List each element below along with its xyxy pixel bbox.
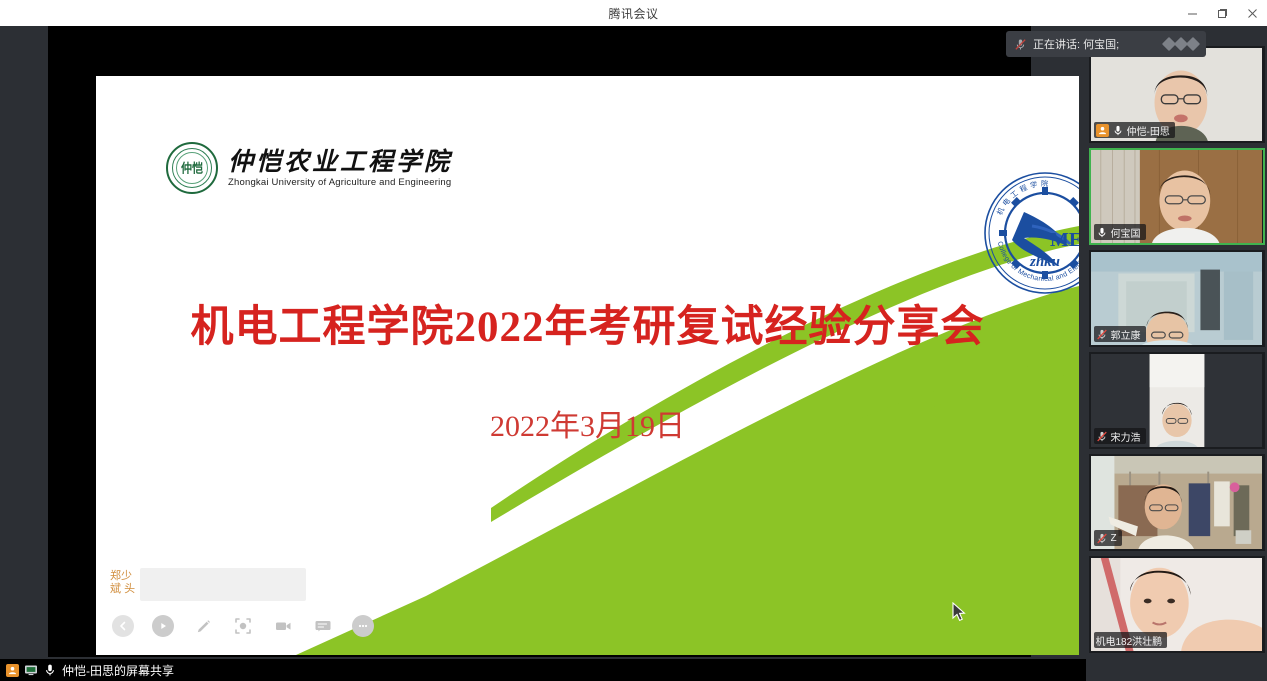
- pen-icon: [194, 617, 213, 636]
- meeting-stage: 仲恺 仲恺农业工程学院 Zhongkai University of Agric…: [0, 26, 1267, 681]
- host-badge: [1096, 124, 1109, 137]
- presentation-toolbar: [112, 615, 374, 637]
- participant-tile[interactable]: 机电182洪壮鹏: [1089, 556, 1265, 653]
- slide-date: 2022年3月19日: [96, 401, 1079, 445]
- participant-nametag: 宋力浩: [1094, 428, 1146, 444]
- screen-share-icon: [24, 663, 38, 677]
- host-badge: [6, 664, 19, 677]
- play-icon: [157, 620, 169, 632]
- close-button[interactable]: [1237, 0, 1267, 26]
- active-speaker-label: 正在讲话: 何宝国;: [1033, 36, 1119, 52]
- college-wordmark: zhku: [1029, 254, 1060, 270]
- title-bar: 腾讯会议: [0, 0, 1267, 26]
- chat-message-overlay[interactable]: 郑少斌 头: [96, 568, 306, 606]
- laser-pointer-button[interactable]: [232, 615, 254, 637]
- participant-name: 郭立康: [1111, 327, 1141, 342]
- mic-icon: [1096, 226, 1108, 239]
- muted-mic-icon: [1096, 532, 1108, 545]
- audio-wave-icon: [1164, 39, 1198, 49]
- next-slide-button[interactable]: [152, 615, 174, 637]
- participant-tile[interactable]: Z: [1089, 454, 1265, 551]
- chat-sender-line2: 头: [124, 583, 135, 595]
- person-icon: [8, 666, 17, 675]
- laser-pointer-icon: [233, 616, 253, 636]
- window-title: 腾讯会议: [608, 5, 658, 22]
- participant-nametag: 郭立康: [1094, 326, 1146, 342]
- person-icon: [1098, 126, 1107, 135]
- chevron-left-icon: [117, 620, 129, 632]
- mic-icon: [43, 663, 57, 677]
- muted-mic-icon: [1096, 328, 1108, 341]
- muted-mic-icon: [1096, 430, 1108, 443]
- close-icon: [1247, 8, 1258, 19]
- college-ring-text-cn: 机 电 工 程 学 院: [995, 179, 1049, 217]
- mouse-cursor: [951, 602, 967, 624]
- participant-tile[interactable]: 郭立康: [1089, 250, 1265, 347]
- university-logo: 仲恺 仲恺农业工程学院 Zhongkai University of Agric…: [166, 142, 452, 194]
- muted-mic-icon: [1014, 38, 1027, 51]
- participant-name: 仲恺-田思: [1127, 123, 1170, 138]
- participant-name: 宋力浩: [1111, 429, 1141, 444]
- participant-name: 何宝国: [1111, 225, 1141, 240]
- shared-screen-area[interactable]: 仲恺 仲恺农业工程学院 Zhongkai University of Agric…: [48, 26, 1031, 657]
- screen-share-status-bar: 仲恺-田思的屏幕共享: [0, 659, 1086, 681]
- chat-message-bubble: [140, 568, 306, 601]
- maximize-icon: [1217, 8, 1228, 19]
- previous-slide-button[interactable]: [112, 615, 134, 637]
- participant-tile[interactable]: 仲恺-田思: [1089, 46, 1265, 143]
- university-name-cn: 仲恺农业工程学院: [228, 149, 452, 176]
- ellipsis-icon: [356, 619, 370, 633]
- active-speaker-indicator: 正在讲话: 何宝国;: [1006, 31, 1206, 57]
- video-camera-icon: [273, 616, 293, 636]
- more-options-button[interactable]: [352, 615, 374, 637]
- participant-nametag: 机电182洪壮鹏: [1094, 632, 1168, 648]
- participant-tile[interactable]: 何宝国: [1089, 148, 1265, 245]
- college-logo-icon: MEE zhku 机 电 工 程 学 院 College of Mechanic…: [980, 168, 1079, 298]
- minimize-icon: [1187, 8, 1198, 19]
- university-name-en: Zhongkai University of Agriculture and E…: [228, 177, 452, 188]
- record-button[interactable]: [272, 615, 294, 637]
- presentation-slide[interactable]: 仲恺 仲恺农业工程学院 Zhongkai University of Agric…: [96, 76, 1079, 655]
- participant-nametag: 仲恺-田思: [1094, 122, 1175, 138]
- slide-title: 机电工程学院2022年考研复试经验分享会: [96, 292, 1079, 354]
- screen-share-status-label: 仲恺-田思的屏幕共享: [62, 662, 174, 679]
- participant-strip[interactable]: 仲恺-田思: [1086, 26, 1267, 681]
- annotate-pen-button[interactable]: [192, 615, 214, 637]
- minimize-button[interactable]: [1177, 0, 1207, 26]
- university-seal-icon: 仲恺: [166, 142, 218, 194]
- window-controls: [1177, 0, 1267, 26]
- participant-nametag: Z: [1094, 530, 1122, 546]
- participant-tile[interactable]: 宋力浩: [1089, 352, 1265, 449]
- tencent-meeting-window: 腾讯会议: [0, 0, 1267, 681]
- chat-sender-name: 郑少斌 头: [96, 568, 140, 596]
- college-monogram: MEE: [1050, 229, 1079, 251]
- participant-name: 机电182洪壮鹏: [1096, 633, 1163, 648]
- chat-bubble-icon: [313, 616, 333, 636]
- chat-button[interactable]: [312, 615, 334, 637]
- participant-nametag: 何宝国: [1094, 224, 1146, 240]
- seal-text: 仲恺: [181, 159, 203, 177]
- participant-name: Z: [1111, 533, 1117, 544]
- maximize-button[interactable]: [1207, 0, 1237, 26]
- mic-icon: [1112, 124, 1124, 137]
